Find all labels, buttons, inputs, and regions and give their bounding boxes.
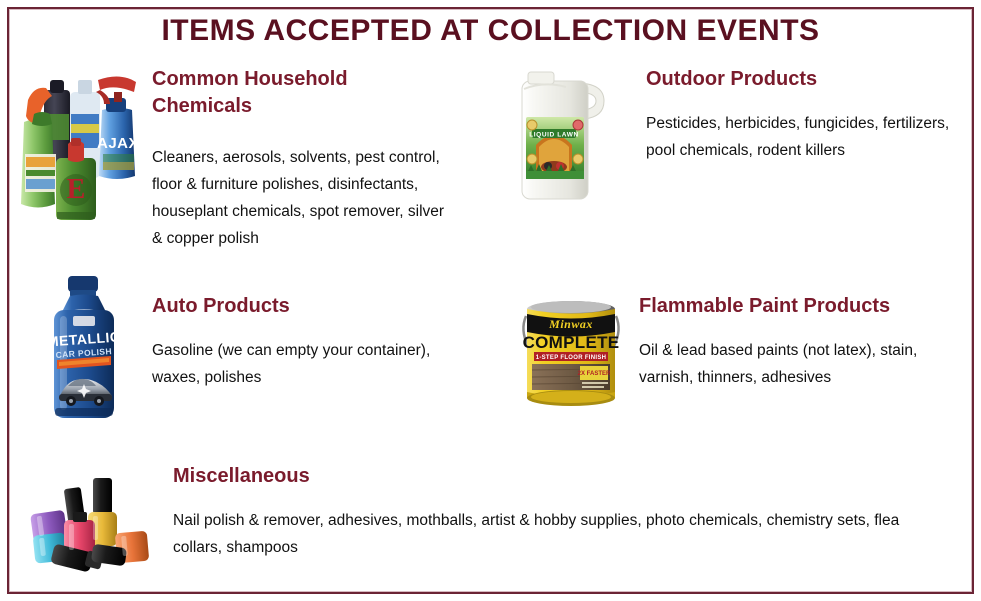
section-body-outdoor: Pesticides, herbicides, fungicides, fert… xyxy=(646,110,951,164)
section-body-household: Cleaners, aerosols, solvents, pest contr… xyxy=(152,144,452,252)
minwax-paint-can-photo: Minwax COMPLETE 1-STEP FLOOR FINISH 2X F… xyxy=(516,292,626,414)
poster-container: ITEMS ACCEPTED AT COLLECTION EVENTS xyxy=(0,0,981,601)
section-body-misc: Nail polish & remover, adhesives, mothba… xyxy=(173,507,933,561)
svg-text:COMPLETE: COMPLETE xyxy=(523,333,620,352)
svg-text:E: E xyxy=(67,174,86,205)
section-heading-flammable: Flammable Paint Products xyxy=(639,293,969,320)
section-heading-auto: Auto Products xyxy=(152,293,452,320)
svg-text:2X FASTER: 2X FASTER xyxy=(578,371,611,377)
section-heading-misc: Miscellaneous xyxy=(173,463,473,490)
car-polish-bottle-photo: METALLIC CAR POLISH xyxy=(40,272,128,424)
section-heading-outdoor: Outdoor Products xyxy=(646,66,946,93)
svg-text:AJAX: AJAX xyxy=(97,135,139,152)
household-cleaning-products-photo: AJAX E xyxy=(14,62,144,247)
page-title: ITEMS ACCEPTED AT COLLECTION EVENTS xyxy=(0,14,981,48)
svg-text:1-STEP FLOOR FINISH: 1-STEP FLOOR FINISH xyxy=(536,355,607,361)
section-body-auto: Gasoline (we can empty your container), … xyxy=(152,337,452,391)
section-body-flammable: Oil & lead based paints (not latex), sta… xyxy=(639,337,959,391)
liquid-lawn-jug-photo: LIQUID LAWN xyxy=(512,67,620,209)
nail-polish-bottles-photo xyxy=(30,468,180,578)
svg-text:Minwax: Minwax xyxy=(548,317,593,331)
svg-text:LIQUID LAWN: LIQUID LAWN xyxy=(529,132,579,139)
section-heading-household: Common Household Chemicals xyxy=(152,66,452,120)
